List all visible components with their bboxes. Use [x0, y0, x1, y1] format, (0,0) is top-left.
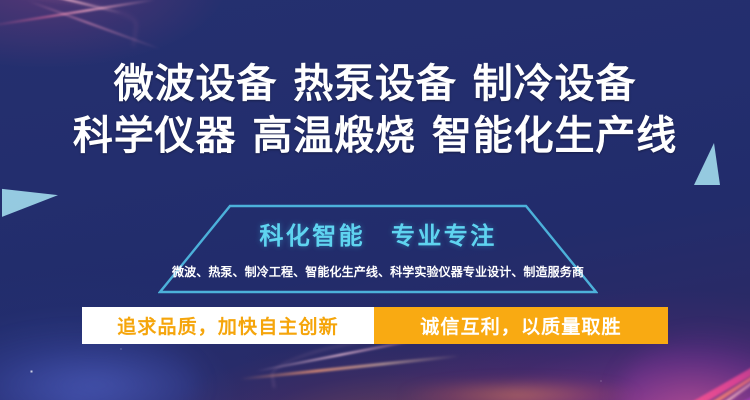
headline-line-2: 科学仪器高温煅烧智能化生产线 [0, 110, 750, 162]
light-streak-top-left-2 [0, 0, 155, 27]
slogan-bar-integrity[interactable]: 诚信互利，以质量取胜 [374, 307, 668, 344]
light-streak-bottom-center-glow [400, 378, 640, 400]
light-streak-bottom-right-4 [624, 356, 750, 400]
headline-item-calcination: 高温煅烧 [252, 113, 416, 159]
headline-block: 微波设备热泵设备制冷设备 科学仪器高温煅烧智能化生产线 [0, 58, 750, 162]
headline-item-instruments: 科学仪器 [73, 113, 237, 159]
tagline-left: 科化智能 [259, 222, 365, 250]
headline-line-1: 微波设备热泵设备制冷设备 [0, 58, 750, 110]
headline-item-smartline: 智能化生产线 [432, 113, 677, 159]
slogan-bar-quality[interactable]: 追求品质，加快自主创新 [82, 307, 374, 344]
light-streak-top-left-1 [0, 0, 122, 14]
light-streak-bottom-center-2 [240, 355, 459, 381]
light-streak-top-left-3 [28, 0, 160, 50]
triangle-left-icon [2, 181, 58, 217]
promo-banner: 微波设备热泵设备制冷设备 科学仪器高温煅烧智能化生产线 科化智能专业专注 微波、… [0, 0, 750, 400]
subtitle-text: 微波、热泵、制冷工程、智能化生产线、科学实验仪器专业设计、制造服务商 [150, 263, 606, 280]
tagline-row: 科化智能专业专注 [158, 216, 598, 251]
headline-item-heatpump: 热泵设备 [293, 61, 457, 107]
slogan-bars: 追求品质，加快自主创新 诚信互利，以质量取胜 [82, 307, 668, 344]
headline-item-refrigeration: 制冷设备 [473, 61, 637, 107]
tagline-right: 专业专注 [391, 222, 497, 250]
headline-item-microwave: 微波设备 [114, 61, 278, 107]
light-streak-top-left-arc [4, 0, 139, 46]
